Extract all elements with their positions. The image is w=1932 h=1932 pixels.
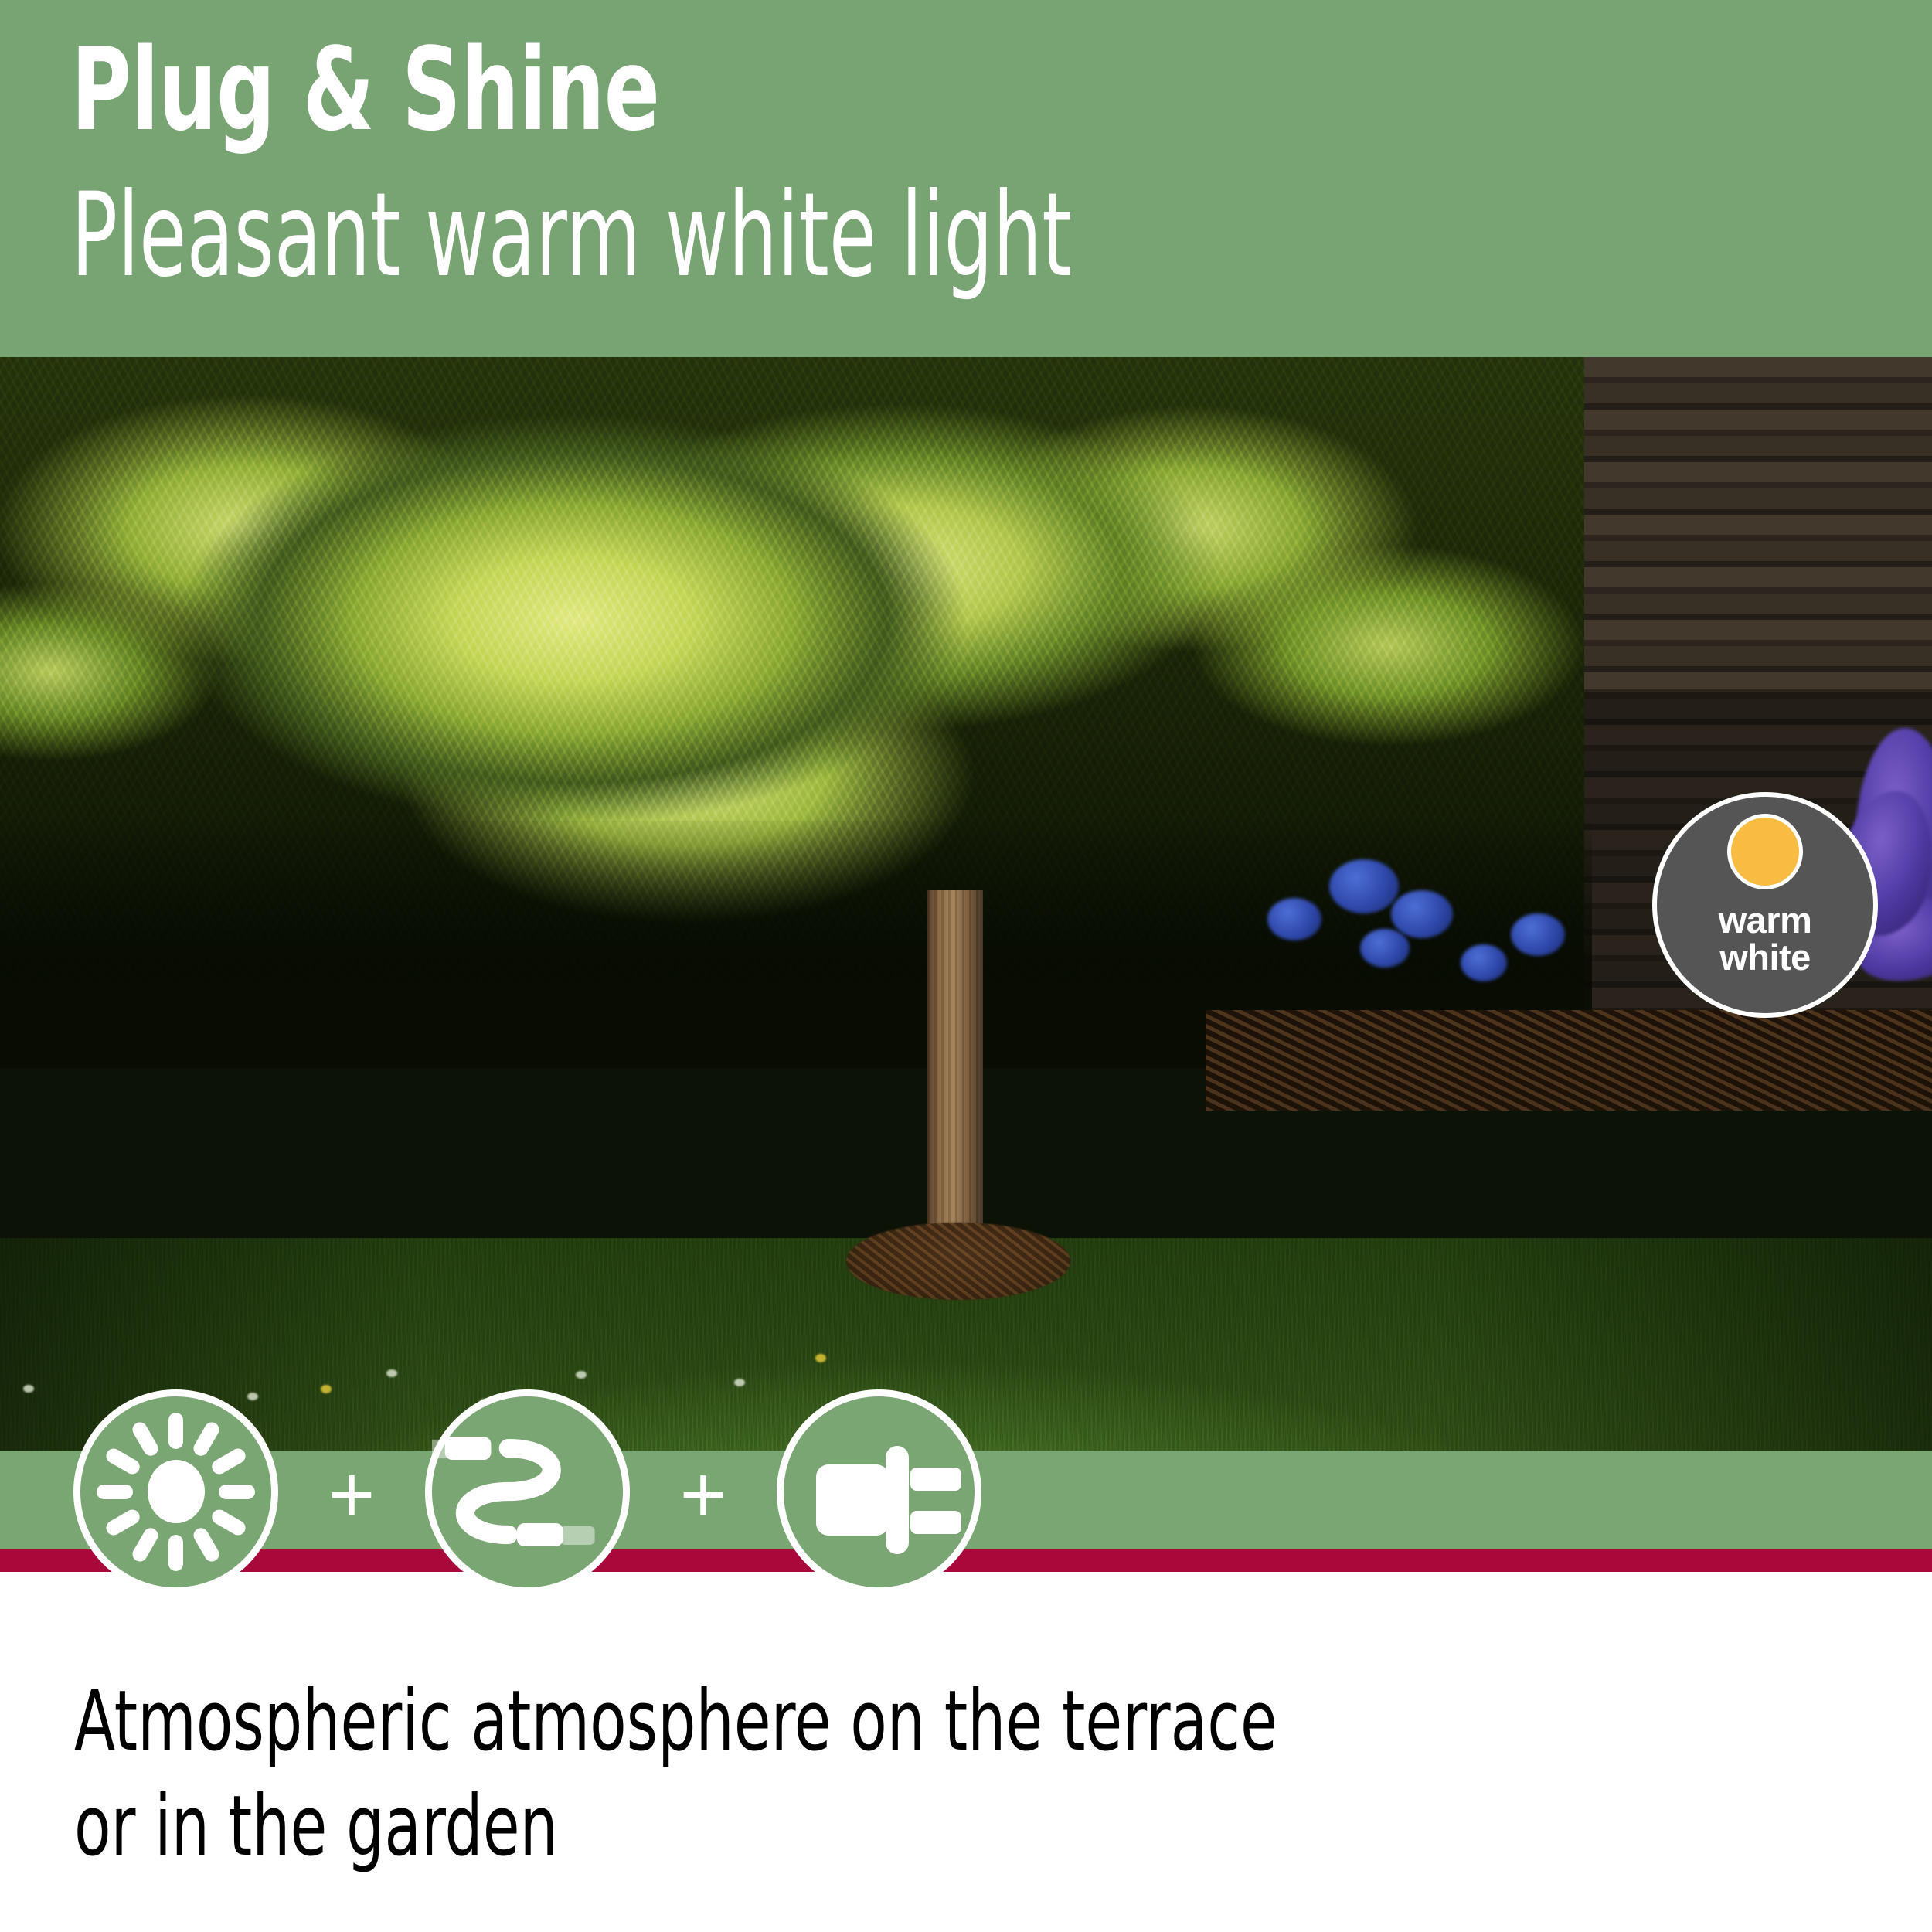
trunk-bark-texture [927, 890, 983, 1277]
garden-photo: warmwhite [0, 357, 1932, 1451]
bluebell-flower [1360, 929, 1410, 968]
clover-flower [386, 1369, 397, 1377]
badge-label-line2: white [1719, 937, 1811, 978]
sun-ray [209, 1507, 248, 1538]
dandelion-flower [815, 1354, 826, 1362]
header-banner: Plug & Shine Pleasant warm white light [0, 0, 1932, 357]
plug-neck [886, 1446, 909, 1554]
sun-ray [130, 1419, 161, 1458]
plug-pin-bottom [910, 1511, 961, 1534]
bluebell-flower [1461, 944, 1507, 981]
plug-body [816, 1464, 889, 1536]
sun-ray [104, 1507, 142, 1538]
sun-ray [168, 1535, 183, 1571]
sun-core [148, 1460, 205, 1523]
bluebell-flower [1391, 890, 1453, 938]
sun-ray [130, 1525, 161, 1563]
sun-ray [191, 1419, 222, 1458]
tagline: Pleasant warm white light [71, 178, 1072, 294]
bluebell-flower [1329, 859, 1399, 913]
bluebell-flower [1511, 913, 1565, 956]
sun-light-icon [73, 1389, 278, 1594]
plus-separator-1: + [278, 1454, 425, 1535]
clover-flower [23, 1385, 34, 1393]
mulch-bed [1206, 1010, 1932, 1111]
clover-flower [734, 1379, 745, 1386]
warm-white-color-dot [1727, 814, 1803, 889]
warm-white-badge-label: warmwhite [1719, 902, 1812, 977]
sun-ray [209, 1446, 248, 1477]
warm-white-badge: warmwhite [1652, 792, 1878, 1018]
sun-ray [191, 1525, 222, 1563]
sun-ray [168, 1413, 183, 1449]
product-marketing-poster: Plug & Shine Pleasant warm white light [0, 0, 1932, 1932]
sun-ray [219, 1485, 255, 1499]
clover-flower [576, 1371, 587, 1379]
plus-separator-2: + [630, 1454, 777, 1535]
cable-icon [425, 1389, 630, 1594]
bluebell-flower [1267, 898, 1321, 940]
plug-pin-top [910, 1468, 961, 1491]
sun-ray [97, 1485, 133, 1499]
badge-label-line1: warm [1719, 900, 1812, 940]
caption-text: Atmospheric atmosphere on the terrace or… [74, 1669, 1311, 1879]
power-plug-icon [777, 1389, 981, 1594]
feature-icon-row: + + [73, 1387, 981, 1596]
cable-glyph [432, 1396, 623, 1587]
brand-title: Plug & Shine [71, 32, 659, 147]
sun-ray [104, 1446, 142, 1477]
trunk-mulch-texture [846, 1223, 1070, 1300]
